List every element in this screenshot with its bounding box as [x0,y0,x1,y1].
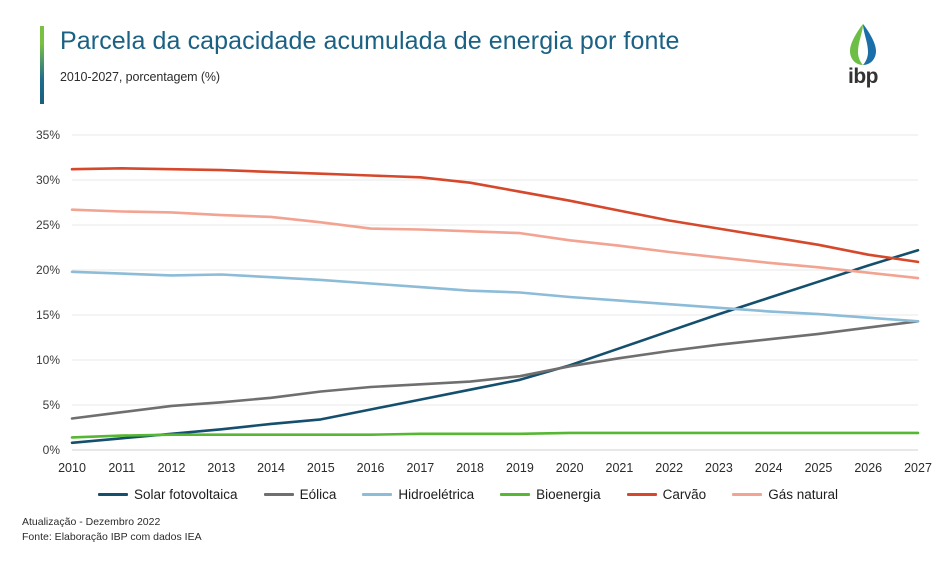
x-axis-tick-label: 2010 [58,461,86,475]
y-axis-tick-label: 25% [36,218,60,232]
y-axis-tick-label: 20% [36,263,60,277]
y-axis-ticks: 0%5%10%15%20%25%30%35% [36,128,60,457]
y-axis-tick-label: 30% [36,173,60,187]
footer-update-line: Atualização - Dezembro 2022 [22,515,202,531]
legend-item[interactable]: Solar fotovoltaica [98,487,238,502]
legend-item[interactable]: Hidroelétrica [362,487,474,502]
legend-swatch-icon [500,493,530,496]
y-axis-tick-label: 10% [36,353,60,367]
x-axis-ticks: 2010201120122013201420152016201720182019… [58,461,932,475]
y-axis-tick-label: 5% [43,398,61,412]
x-axis-tick-label: 2026 [854,461,882,475]
header-text-group: Parcela da capacidade acumulada de energ… [60,26,680,104]
legend-label: Gás natural [768,487,838,502]
legend-swatch-icon [362,493,392,496]
x-axis-tick-label: 2016 [357,461,385,475]
x-axis-tick-label: 2015 [307,461,335,475]
page-title: Parcela da capacidade acumulada de energ… [60,27,680,57]
x-axis-tick-label: 2027 [904,461,932,475]
series-line [72,321,918,418]
x-axis-tick-label: 2013 [207,461,235,475]
x-axis-tick-label: 2017 [406,461,434,475]
legend-item[interactable]: Gás natural [732,487,838,502]
series-line [72,210,918,278]
x-axis-tick-label: 2011 [108,461,135,475]
series-line [72,272,918,322]
x-axis-tick-label: 2014 [257,461,285,475]
x-axis-tick-label: 2020 [556,461,584,475]
series-line [72,250,918,443]
ibp-logo: ibp [832,22,894,94]
legend-item[interactable]: Bioenergia [500,487,601,502]
y-axis-tick-label: 15% [36,308,60,322]
legend-label: Hidroelétrica [398,487,474,502]
x-axis-tick-label: 2023 [705,461,733,475]
footer-source-line: Fonte: Elaboração IBP com dados IEA [22,530,202,546]
legend-label: Bioenergia [536,487,601,502]
accent-bar [40,26,44,104]
legend-swatch-icon [732,493,762,496]
line-chart-svg: 0%5%10%15%20%25%30%35% 20102011201220132… [0,112,936,482]
page-subtitle: 2010-2027, porcentagem (%) [60,70,680,84]
chart-area: 0%5%10%15%20%25%30%35% 20102011201220132… [0,112,936,482]
footer-notes: Atualização - Dezembro 2022 Fonte: Elabo… [22,515,202,547]
legend-label: Carvão [663,487,707,502]
legend-item[interactable]: Carvão [627,487,707,502]
x-axis-tick-label: 2019 [506,461,534,475]
legend-swatch-icon [627,493,657,496]
x-axis-tick-label: 2021 [606,461,634,475]
chart-header: Parcela da capacidade acumulada de energ… [40,26,800,104]
x-axis-tick-label: 2024 [755,461,783,475]
series-lines-group [72,168,918,443]
x-axis-tick-label: 2018 [456,461,484,475]
x-axis-tick-label: 2025 [805,461,833,475]
logo-wordmark: ibp [848,66,878,87]
droplet-icon [845,22,881,68]
legend-swatch-icon [98,493,128,496]
chart-page: Parcela da capacidade acumulada de energ… [0,0,936,562]
y-axis-tick-label: 35% [36,128,60,142]
legend-label: Solar fotovoltaica [134,487,238,502]
x-axis-tick-label: 2012 [158,461,186,475]
y-axis-tick-label: 0% [43,443,61,457]
legend-label: Eólica [300,487,337,502]
legend-item[interactable]: Eólica [264,487,337,502]
chart-legend: Solar fotovoltaicaEólicaHidroelétricaBio… [0,481,936,507]
legend-swatch-icon [264,493,294,496]
series-line [72,433,918,438]
x-axis-tick-label: 2022 [655,461,683,475]
